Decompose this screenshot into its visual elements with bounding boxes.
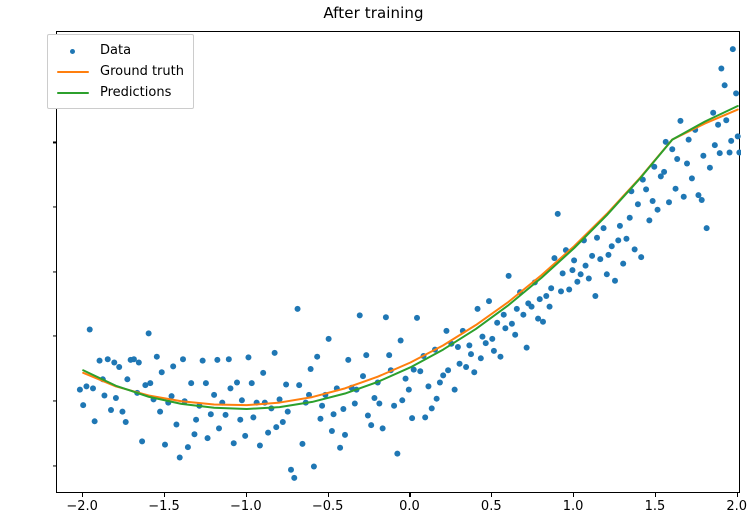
data-point <box>308 366 314 372</box>
data-point <box>265 430 271 436</box>
data-point <box>87 327 93 333</box>
data-point <box>566 286 572 292</box>
data-point <box>609 243 615 249</box>
data-point <box>417 368 423 374</box>
data-point <box>478 355 484 361</box>
data-point <box>159 369 165 375</box>
data-point <box>617 223 623 229</box>
x-tick-label: −1.5 <box>148 499 180 514</box>
data-point <box>733 90 739 96</box>
data-point <box>273 424 279 430</box>
data-point <box>391 403 397 409</box>
data-point <box>162 442 168 448</box>
data-point <box>139 438 145 444</box>
data-point <box>331 411 337 417</box>
data-point <box>131 356 137 362</box>
data-point <box>317 416 323 422</box>
data-point <box>285 409 291 415</box>
data-point <box>227 385 233 391</box>
data-point <box>399 397 405 403</box>
x-tick-mark <box>328 493 329 497</box>
data-point <box>429 405 435 411</box>
data-point <box>154 354 160 360</box>
data-point <box>406 387 412 393</box>
data-point <box>157 409 163 415</box>
data-point <box>592 293 598 299</box>
data-point <box>231 440 237 446</box>
data-point <box>280 419 286 425</box>
data-point <box>525 300 531 306</box>
data-point <box>250 414 256 420</box>
data-point <box>191 431 197 437</box>
data-point <box>666 199 672 205</box>
legend-label: Data <box>100 43 131 58</box>
data-point <box>578 271 584 277</box>
matplotlib-figure: After training 420−2−4−6−8 −2.0−1.5−1.0−… <box>0 0 747 528</box>
data-point <box>113 395 119 401</box>
data-point <box>452 387 458 393</box>
data-point <box>551 255 557 261</box>
data-point <box>296 382 302 388</box>
data-point <box>383 314 389 320</box>
x-tick-mark <box>409 493 410 497</box>
data-point <box>108 407 114 413</box>
data-point <box>736 150 741 156</box>
data-point <box>646 217 652 223</box>
data-point <box>337 445 343 451</box>
data-point <box>147 380 153 386</box>
data-point <box>299 441 305 447</box>
data-point <box>594 235 600 241</box>
data-point <box>520 312 526 318</box>
data-point <box>223 412 229 418</box>
data-point <box>340 406 346 412</box>
data-point <box>466 342 472 348</box>
data-point <box>686 137 692 143</box>
data-point <box>635 201 641 207</box>
data-point <box>245 354 251 360</box>
data-point <box>689 175 695 181</box>
data-point <box>524 345 530 351</box>
y-tick-mark <box>53 271 57 272</box>
data-point <box>371 395 377 401</box>
data-point <box>715 122 721 128</box>
data-point <box>483 340 489 346</box>
y-tick-mark <box>53 207 57 208</box>
data-point <box>620 261 626 267</box>
data-point <box>342 432 348 438</box>
data-point <box>205 435 211 441</box>
data-point <box>173 422 179 428</box>
data-point <box>260 370 266 376</box>
legend-marker-line-icon <box>55 65 91 79</box>
data-point <box>723 117 729 123</box>
data-point <box>319 403 325 409</box>
data-point <box>717 150 723 156</box>
data-point <box>92 418 98 424</box>
data-point <box>506 273 512 279</box>
data-point <box>589 253 595 259</box>
data-point <box>632 246 638 252</box>
data-point <box>491 348 497 354</box>
x-tick-mark <box>737 493 738 497</box>
data-point <box>386 352 392 358</box>
data-point <box>673 186 679 192</box>
data-point <box>710 110 716 116</box>
x-tick-label: 0.5 <box>481 499 502 514</box>
data-point <box>295 306 301 312</box>
data-point <box>365 412 371 418</box>
data-point <box>398 338 404 344</box>
data-point <box>574 279 580 285</box>
data-point <box>380 425 386 431</box>
data-point <box>501 312 507 318</box>
scatter-points-layer <box>77 46 741 481</box>
data-point <box>704 225 710 231</box>
data-point <box>77 387 83 393</box>
data-point <box>226 356 232 362</box>
data-point <box>555 211 561 217</box>
x-tick-label: −1.0 <box>230 499 262 514</box>
x-tick-mark <box>246 493 247 497</box>
data-point <box>605 252 611 258</box>
data-point <box>193 417 199 423</box>
data-point <box>234 380 240 386</box>
data-point <box>727 150 733 156</box>
data-point <box>486 298 492 304</box>
data-point <box>363 352 369 358</box>
data-point <box>457 361 463 367</box>
data-point <box>674 156 680 162</box>
data-point <box>514 306 520 312</box>
data-point <box>111 360 117 366</box>
data-point <box>612 278 618 284</box>
data-point <box>494 320 500 326</box>
data-point <box>414 315 420 321</box>
data-point <box>502 325 508 331</box>
legend-item-ground-truth: Ground truth <box>55 61 184 82</box>
data-point <box>623 236 629 242</box>
data-point <box>443 328 449 334</box>
data-point <box>105 356 111 362</box>
legend-item-predictions: Predictions <box>55 82 184 103</box>
data-point <box>119 409 125 415</box>
data-point <box>571 257 577 263</box>
data-point <box>455 344 461 350</box>
data-point <box>101 392 107 398</box>
data-point <box>681 194 687 200</box>
data-point <box>728 138 734 144</box>
data-point <box>170 363 176 369</box>
data-point <box>535 316 541 322</box>
data-point <box>434 396 440 402</box>
data-point <box>185 444 191 450</box>
data-point <box>352 401 358 407</box>
x-tick-mark <box>491 493 492 497</box>
data-point <box>80 402 86 408</box>
data-point <box>543 293 549 299</box>
data-point <box>211 392 217 398</box>
data-point <box>707 165 713 171</box>
data-point <box>314 354 320 360</box>
data-point <box>597 256 603 262</box>
data-point <box>123 419 129 425</box>
data-point <box>146 330 152 336</box>
data-point <box>311 464 317 470</box>
data-point <box>283 381 289 387</box>
data-point <box>558 288 564 294</box>
x-tick-label: −2.0 <box>66 499 98 514</box>
data-point <box>83 383 89 389</box>
chart-title: After training <box>0 4 747 22</box>
x-tick-label: 1.0 <box>563 499 584 514</box>
data-point <box>489 336 495 342</box>
data-point <box>242 433 248 439</box>
data-point <box>700 153 706 159</box>
x-tick-label: 1.5 <box>645 499 666 514</box>
data-point <box>445 367 451 373</box>
data-point <box>569 267 575 273</box>
data-point <box>512 332 518 338</box>
data-point <box>475 306 481 312</box>
legend-marker-line-icon <box>55 86 91 100</box>
data-point <box>471 369 477 375</box>
data-point <box>548 285 554 291</box>
data-point <box>643 186 649 192</box>
data-point <box>468 351 474 357</box>
data-point <box>288 467 294 473</box>
chart-legend: DataGround truthPredictions <box>47 34 194 109</box>
data-point <box>604 271 610 277</box>
data-point <box>583 263 589 269</box>
data-point <box>699 197 705 203</box>
data-point <box>718 66 724 72</box>
x-tick-label: 0.0 <box>399 499 420 514</box>
data-point <box>661 169 667 175</box>
data-point <box>326 336 332 342</box>
data-point <box>627 215 633 221</box>
data-point <box>497 354 503 360</box>
legend-label: Ground truth <box>100 64 184 79</box>
data-point <box>638 254 644 260</box>
data-point <box>97 358 103 364</box>
data-point <box>376 401 382 407</box>
data-point <box>257 443 263 449</box>
data-point <box>669 146 675 152</box>
data-point <box>291 475 297 481</box>
data-point <box>180 356 186 362</box>
data-point <box>422 414 428 420</box>
data-point <box>403 376 409 382</box>
data-point <box>425 383 431 389</box>
legend-label: Predictions <box>100 85 171 100</box>
data-point <box>540 319 546 325</box>
data-point <box>272 350 278 356</box>
data-point <box>177 454 183 460</box>
data-point <box>394 451 400 457</box>
y-tick-mark <box>53 400 57 401</box>
data-point <box>586 276 592 282</box>
data-point <box>368 422 374 428</box>
data-point <box>200 358 206 364</box>
data-point <box>203 380 209 386</box>
data-point <box>188 380 194 386</box>
data-point <box>440 372 446 378</box>
data-point <box>249 380 255 386</box>
x-tick-label: −0.5 <box>312 499 344 514</box>
data-point <box>116 364 122 370</box>
data-point <box>712 142 718 148</box>
y-tick-mark <box>53 336 57 337</box>
data-point <box>208 411 214 417</box>
legend-item-data: Data <box>55 40 184 61</box>
data-point <box>239 397 245 403</box>
data-point <box>509 321 515 327</box>
data-point <box>216 425 222 431</box>
data-point <box>650 198 656 204</box>
x-tick-mark <box>82 493 83 497</box>
x-tick-mark <box>573 493 574 497</box>
data-point <box>214 357 220 363</box>
x-tick-mark <box>164 493 165 497</box>
data-point <box>90 385 96 391</box>
data-point <box>437 380 443 386</box>
data-point <box>684 160 690 166</box>
data-point <box>537 296 543 302</box>
data-point <box>735 133 741 139</box>
data-point <box>136 360 142 366</box>
x-tick-mark <box>655 493 656 497</box>
x-tick-label: 2.0 <box>726 499 747 514</box>
data-point <box>463 364 469 370</box>
data-point <box>547 304 553 310</box>
data-point <box>560 270 566 276</box>
data-point <box>329 428 335 434</box>
y-tick-mark <box>53 465 57 466</box>
data-point <box>722 82 728 88</box>
data-point <box>730 46 736 52</box>
data-point <box>124 376 130 382</box>
data-point <box>237 417 243 423</box>
data-point <box>360 373 366 379</box>
data-point <box>479 334 485 340</box>
data-point <box>677 118 683 124</box>
data-point <box>409 415 415 421</box>
data-point <box>357 312 363 318</box>
data-point <box>345 357 351 363</box>
data-point <box>601 225 607 231</box>
legend-marker-dot-icon <box>55 44 91 58</box>
data-point <box>615 237 621 243</box>
y-tick-mark <box>53 142 57 143</box>
data-point <box>655 207 661 213</box>
